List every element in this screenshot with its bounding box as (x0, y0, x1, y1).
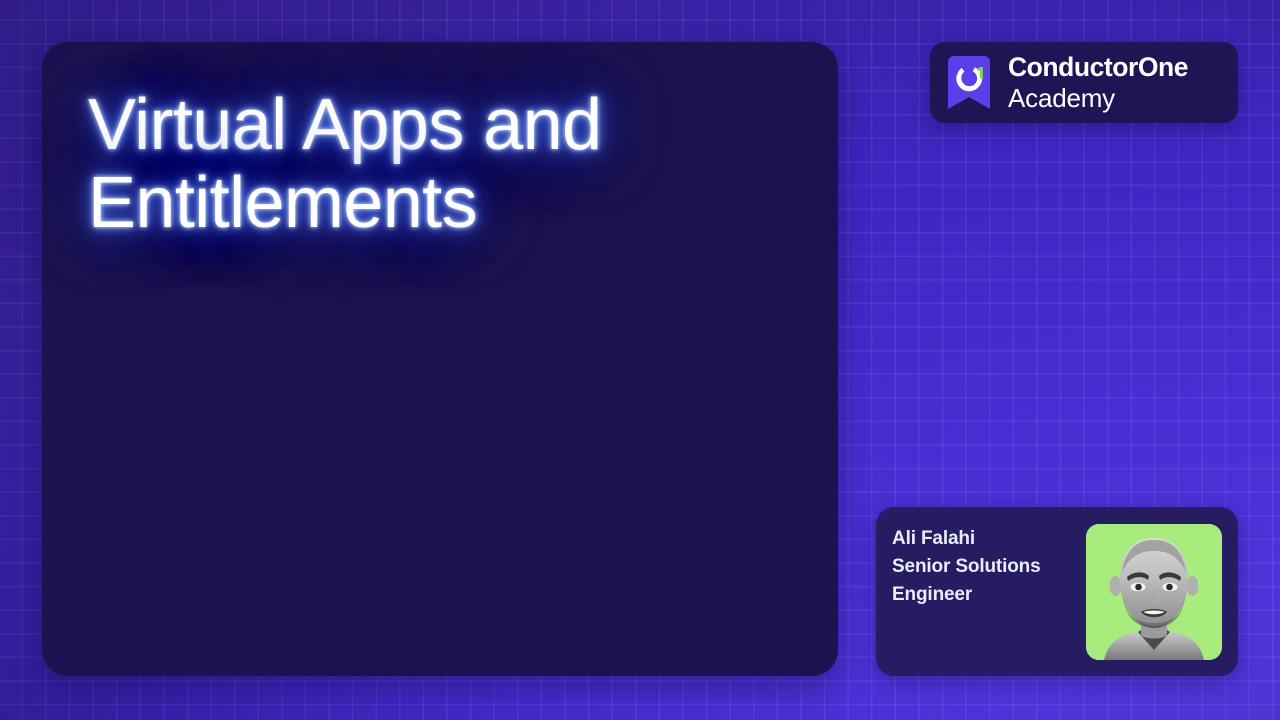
slide-canvas: Virtual Apps and Entitlements ConductorO… (0, 0, 1280, 720)
speaker-role-line2: Engineer (892, 581, 1088, 609)
brand-wordmark: ConductorOne Academy (1008, 54, 1188, 112)
brand-card: ConductorOne Academy (930, 42, 1238, 123)
speaker-portrait-image (1086, 524, 1222, 660)
brand-subname: Academy (1008, 85, 1188, 111)
speaker-name: Ali Falahi (892, 525, 1088, 553)
speaker-card: Ali Falahi Senior Solutions Engineer (876, 507, 1238, 676)
brand-name: ConductorOne (1008, 54, 1188, 81)
title-card: Virtual Apps and Entitlements (42, 42, 838, 676)
conductorone-logo-icon (944, 56, 994, 109)
speaker-text-block: Ali Falahi Senior Solutions Engineer (892, 525, 1088, 609)
speaker-avatar (1086, 524, 1222, 660)
speaker-role-line1: Senior Solutions (892, 553, 1088, 581)
slide-title: Virtual Apps and Entitlements (88, 86, 798, 243)
